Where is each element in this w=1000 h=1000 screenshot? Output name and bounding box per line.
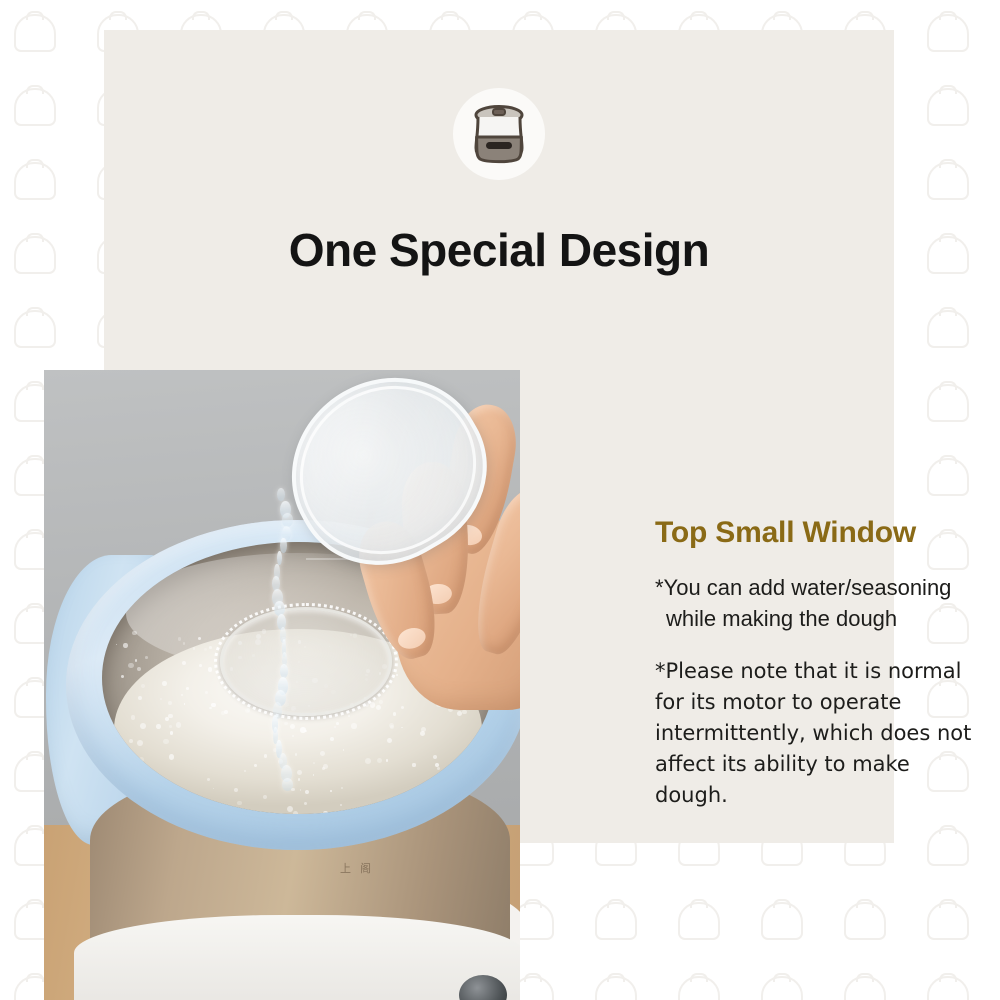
flour-speck <box>244 770 246 772</box>
pot-outline-watermark <box>678 902 720 940</box>
flour-speck <box>313 774 315 776</box>
flour-speck <box>221 711 225 715</box>
flour-speck <box>330 790 332 792</box>
flour-speck <box>139 757 144 762</box>
flour-speck <box>304 730 306 732</box>
pot-outline-watermark <box>844 902 886 940</box>
flour-speck <box>213 788 215 790</box>
flour-speck <box>263 795 267 799</box>
flour-speck <box>431 785 434 788</box>
flour-speck <box>300 789 302 791</box>
rice-cooker-icon-badge <box>453 88 545 180</box>
water-stream-segment <box>280 664 288 677</box>
flour-speck <box>163 739 168 744</box>
flour-speck <box>297 770 302 775</box>
flour-speck <box>165 717 169 721</box>
flour-speck <box>176 722 182 728</box>
flour-speck <box>169 725 172 728</box>
flour-speck <box>128 663 133 668</box>
flour-speck <box>141 684 145 688</box>
flour-speck <box>168 701 172 705</box>
flour-speck <box>254 764 257 767</box>
flour-speck <box>129 739 133 743</box>
callout-block: Top Small Window *You can add water/seas… <box>655 516 985 811</box>
flour-speck <box>234 788 238 792</box>
flour-speck <box>397 810 399 812</box>
flour-speck <box>401 727 403 729</box>
appliance-logo-text: 上 阁 <box>340 860 374 876</box>
flour-speck <box>198 637 201 640</box>
flour-speck <box>341 787 343 789</box>
flour-speck <box>313 762 315 764</box>
flour-speck <box>145 656 148 659</box>
appliance-base <box>74 915 520 1000</box>
water-stream-segment <box>282 513 293 527</box>
flour-speck <box>330 737 334 741</box>
pot-outline-watermark <box>927 902 969 940</box>
flour-speck <box>126 767 128 769</box>
pot-outline-watermark <box>927 384 969 422</box>
flour-speck <box>182 661 187 666</box>
water-stream-segment <box>280 538 286 553</box>
flour-speck <box>140 723 146 729</box>
flour-speck <box>390 725 394 729</box>
fingernail <box>396 625 428 652</box>
pot-outline-watermark <box>927 14 969 52</box>
flour-speck <box>208 667 212 671</box>
flour-speck <box>182 793 188 799</box>
flour-speck <box>237 801 241 805</box>
flour-speck <box>295 753 298 756</box>
flour-speck <box>123 643 128 648</box>
page-title: One Special Design <box>104 223 894 277</box>
pot-outline-watermark <box>927 88 969 126</box>
pot-outline-watermark <box>14 310 56 348</box>
pot-outline-watermark <box>927 828 969 866</box>
callout-paragraph-1-line-1: *You can add water/seasoning <box>655 575 951 600</box>
flour-speck <box>412 763 415 766</box>
water-stream-segment <box>277 488 285 501</box>
flour-speck <box>204 648 207 651</box>
pot-outline-watermark <box>14 88 56 126</box>
rice-cooker-icon <box>470 104 528 164</box>
pot-outline-watermark <box>595 976 637 1000</box>
flour-speck <box>137 740 143 746</box>
flour-speck <box>137 667 141 671</box>
pot-outline-watermark <box>927 976 969 1000</box>
flour-speck <box>181 694 183 696</box>
flour-speck <box>131 715 136 720</box>
callout-heading: Top Small Window <box>655 516 985 550</box>
flour-speck <box>132 631 137 636</box>
flour-speck <box>386 759 388 761</box>
flour-speck <box>199 664 202 667</box>
pot-outline-watermark <box>761 976 803 1000</box>
flour-speck <box>334 726 337 729</box>
flour-speck <box>129 813 132 814</box>
flour-speck <box>162 681 167 686</box>
flour-speck <box>168 714 173 719</box>
flour-speck <box>450 806 454 810</box>
flour-speck <box>209 646 212 649</box>
flour-speck <box>449 785 453 789</box>
water-stream <box>272 488 292 788</box>
pot-outline-watermark <box>595 902 637 940</box>
pot-outline-watermark <box>927 236 969 274</box>
flour-speck <box>304 802 307 805</box>
flour-speck <box>429 802 432 805</box>
flour-speck <box>135 659 137 661</box>
flour-speck <box>437 767 440 770</box>
flour-speck <box>183 642 186 645</box>
flour-speck <box>433 755 437 759</box>
pot-outline-watermark <box>678 976 720 1000</box>
flour-speck <box>351 723 356 728</box>
callout-paragraph-2: *Please note that it is normal for its m… <box>655 656 985 811</box>
flour-speck <box>156 724 161 729</box>
flour-speck <box>160 698 162 700</box>
pot-outline-watermark <box>14 14 56 52</box>
pot-outline-watermark <box>14 236 56 274</box>
pot-outline-watermark <box>761 902 803 940</box>
flour-speck <box>121 675 124 678</box>
flour-speck <box>209 707 212 710</box>
flour-speck <box>169 754 174 759</box>
flour-speck <box>323 764 328 769</box>
flour-speck <box>245 708 250 713</box>
flour-speck <box>193 647 196 650</box>
flour-speck <box>207 778 210 781</box>
flour-speck <box>287 806 293 812</box>
flour-speck <box>377 758 382 763</box>
flour-speck <box>387 738 392 743</box>
water-stream-segment <box>277 551 282 565</box>
flour-speck <box>140 808 142 810</box>
callout-paragraph-1: *You can add water/seasoning while makin… <box>655 572 985 634</box>
flour-speck <box>264 754 268 758</box>
flour-speck <box>138 696 142 700</box>
pot-outline-watermark <box>14 162 56 200</box>
flour-speck <box>170 731 173 734</box>
pot-outline-watermark <box>844 976 886 1000</box>
pot-outline-watermark <box>927 458 969 496</box>
flour-speck <box>340 804 342 806</box>
product-infographic-page: One Special Design 上 阁 <box>0 0 1000 1000</box>
flour-speck <box>421 727 426 732</box>
flour-speck <box>205 691 208 694</box>
flour-speck <box>463 754 467 758</box>
flour-speck <box>298 778 301 781</box>
flour-speck <box>365 758 371 764</box>
product-photo: 上 阁 <box>44 370 520 1000</box>
flour-speck <box>399 804 401 806</box>
flour-speck <box>184 703 186 705</box>
flour-speck <box>336 722 339 725</box>
flour-speck <box>116 644 118 646</box>
pot-outline-watermark <box>927 310 969 348</box>
flour-speck <box>320 751 325 756</box>
flour-speck <box>293 811 298 814</box>
pot-outline-watermark <box>927 162 969 200</box>
callout-paragraph-1-line-2: while making the dough <box>655 603 985 634</box>
flour-speck <box>143 765 149 771</box>
flour-speck <box>186 687 189 690</box>
flour-speck <box>305 790 310 795</box>
flour-speck <box>211 703 216 708</box>
flour-speck <box>343 749 345 751</box>
flour-speck <box>178 637 182 641</box>
flour-speck <box>323 811 327 814</box>
